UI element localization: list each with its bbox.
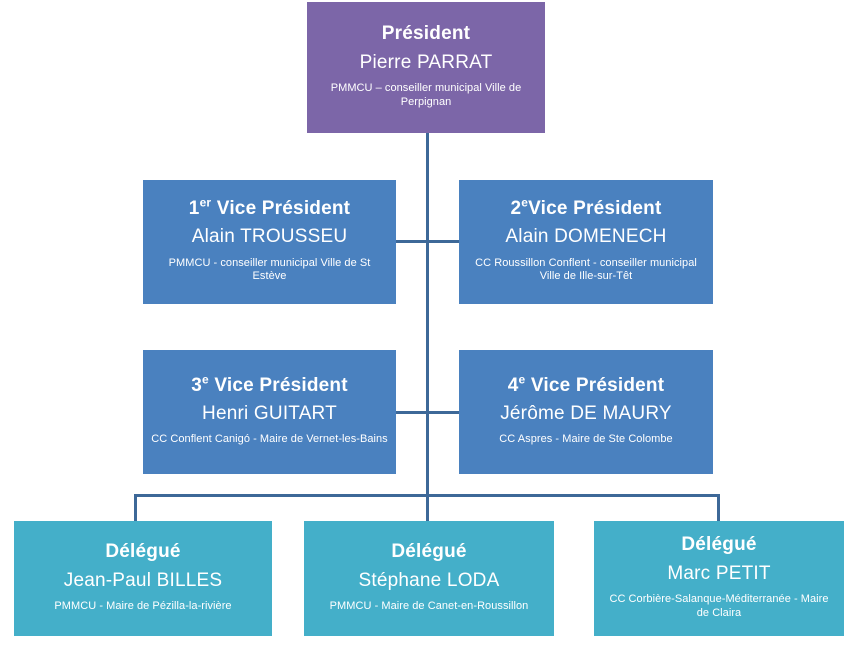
node-delegate-1-person: Jean-Paul BILLES [64,570,222,591]
node-vice-president-1-role-text: Vice Président [211,198,350,219]
node-vice-president-3-person: Henri GUITART [202,403,337,424]
node-vice-president-1-role-ordinal: er [200,196,212,210]
node-vice-president-4-role-text: Vice Président [525,375,664,396]
node-vice-president-1-detail: PMMCU - conseiller municipal Ville de St… [151,257,388,285]
node-delegate-3-detail: CC Corbière-Salanque-Méditerranée - Mair… [602,593,836,621]
node-delegate-3-role: Délégué [681,534,756,555]
node-vice-president-4-detail: CC Aspres - Maire de Ste Colombe [499,433,672,447]
node-delegate-2-role: Délégué [391,541,466,562]
node-vice-president-3[interactable]: 3e Vice Président Henri GUITART CC Confl… [143,350,396,474]
node-vice-president-4-person: Jérôme DE MAURY [500,403,672,424]
connector-bus-to-delegate-1 [134,494,137,521]
node-delegate-3[interactable]: Délégué Marc PETIT CC Corbière-Salanque-… [594,521,844,636]
connector-president-to-row2 [426,133,429,242]
node-delegate-2-person: Stéphane LODA [359,570,500,591]
connector-row2-to-row3 [426,242,429,414]
node-vice-president-2-detail: CC Roussillon Conflent - conseiller muni… [467,257,705,285]
node-vice-president-1-role: 1er Vice Président [189,198,350,219]
node-vice-president-2-role: 2eVice Président [510,198,661,219]
node-vice-president-1[interactable]: 1er Vice Président Alain TROUSSEU PMMCU … [143,180,396,304]
node-president-detail: PMMCU – conseiller municipal Ville de Pe… [315,82,537,110]
node-president[interactable]: Président Pierre PARRAT PMMCU – conseill… [307,2,545,133]
node-delegate-1[interactable]: Délégué Jean-Paul BILLES PMMCU - Maire d… [14,521,272,636]
node-vice-president-3-role-ordinal: e [202,373,209,387]
node-vice-president-2-role-text: Vice Président [528,198,661,219]
node-vice-president-3-role: 3e Vice Président [191,375,348,396]
connector-bus-to-delegate-2 [426,496,429,521]
organization-chart: Président Pierre PARRAT PMMCU – conseill… [0,0,850,649]
node-delegate-2[interactable]: Délégué Stéphane LODA PMMCU - Maire de C… [304,521,554,636]
connector-row3-to-bus [426,414,429,496]
node-vice-president-4[interactable]: 4e Vice Président Jérôme DE MAURY CC Asp… [459,350,713,474]
connector-bus-to-delegate-3 [717,494,720,521]
node-vice-president-2-person: Alain DOMENECH [505,226,666,247]
node-delegate-3-person: Marc PETIT [667,563,770,584]
node-vice-president-3-role-number: 3 [191,375,202,396]
node-vice-president-4-role-number: 4 [508,375,519,396]
node-delegate-2-detail: PMMCU - Maire de Canet-en-Roussillon [330,600,529,614]
node-delegate-1-role: Délégué [105,541,180,562]
node-president-person: Pierre PARRAT [360,52,493,73]
node-vice-president-1-person: Alain TROUSSEU [192,226,348,247]
node-delegate-1-detail: PMMCU - Maire de Pézilla-la-rivière [54,600,231,614]
node-president-role: Président [382,23,470,44]
node-vice-president-1-role-number: 1 [189,198,200,219]
node-vice-president-3-role-text: Vice Président [209,375,348,396]
node-vice-president-4-role: 4e Vice Président [508,375,665,396]
node-vice-president-2[interactable]: 2eVice Président Alain DOMENECH CC Rouss… [459,180,713,304]
node-vice-president-3-detail: CC Conflent Canigó - Maire de Vernet-les… [151,433,387,447]
node-vice-president-2-role-number: 2 [510,198,521,219]
